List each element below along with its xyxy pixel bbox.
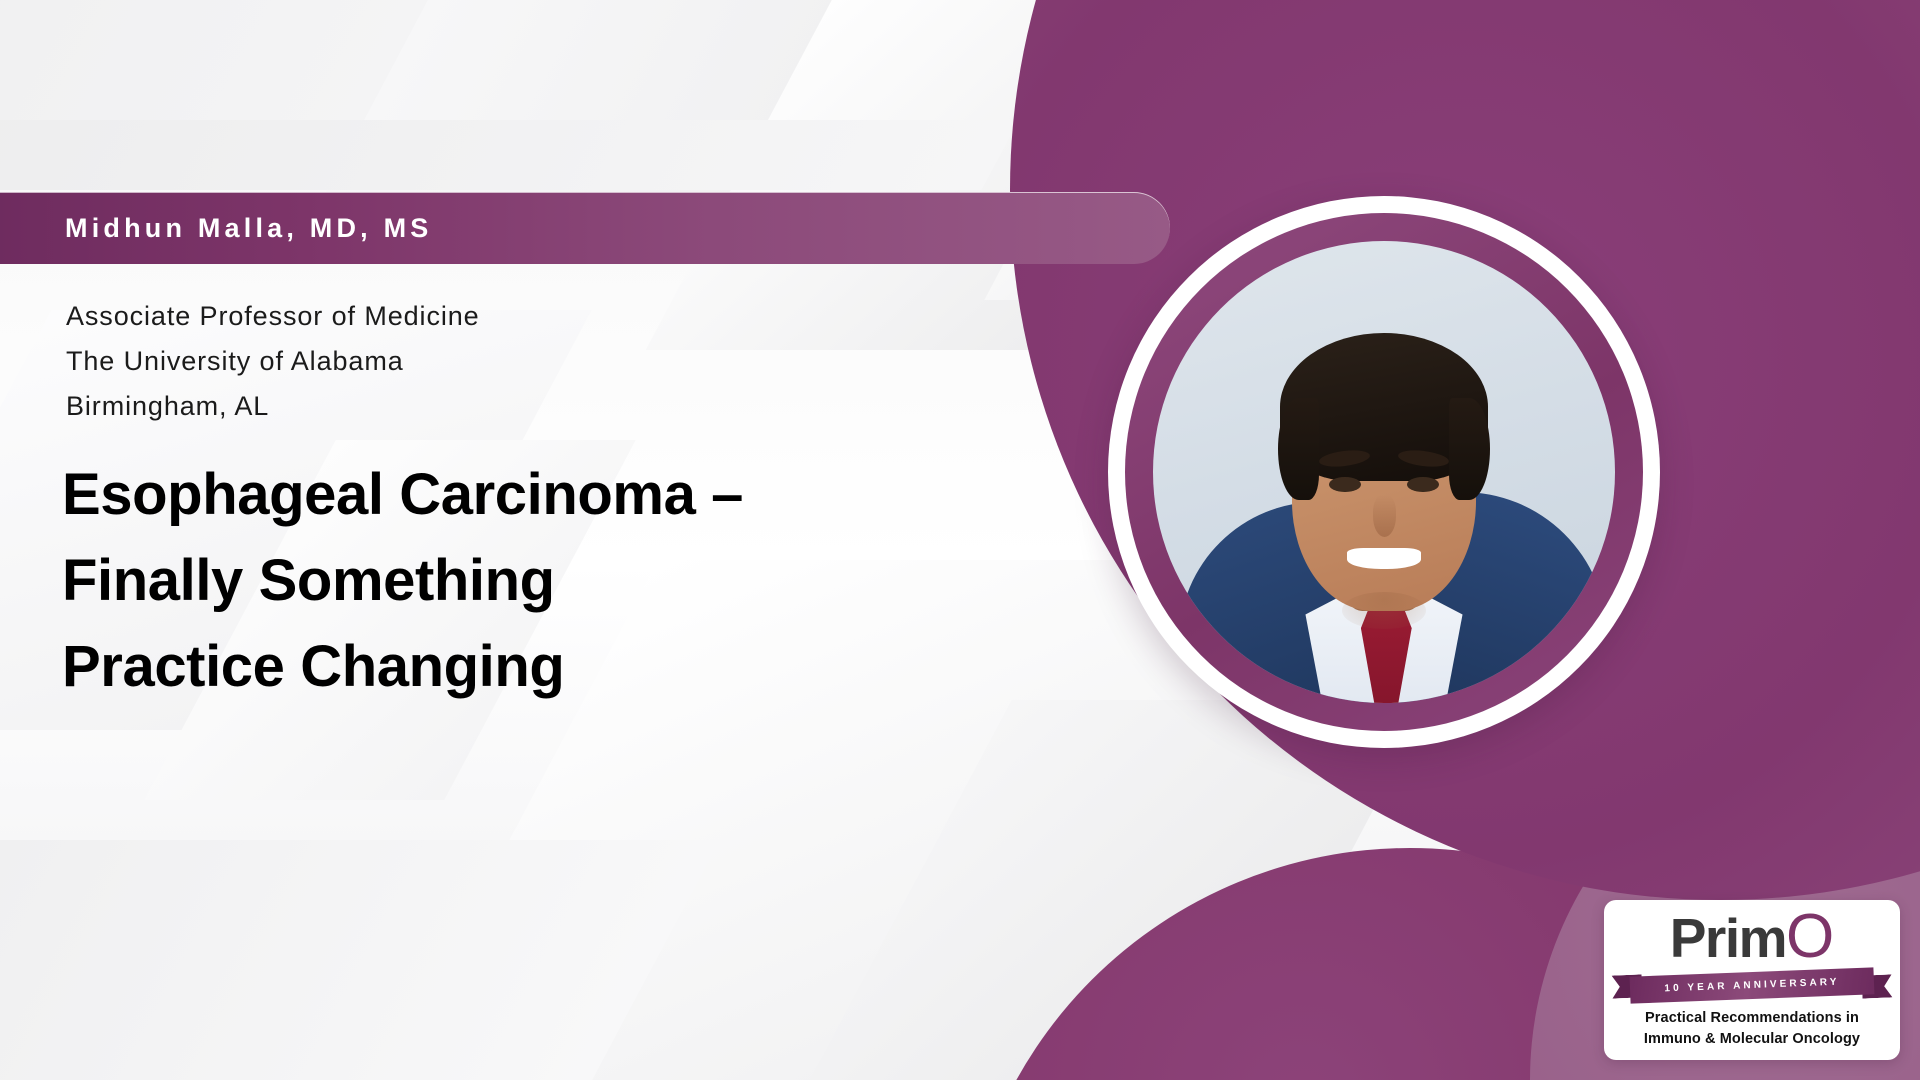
affiliation-block: Associate Professor of Medicine The Univ… (66, 294, 886, 429)
portrait-hair-left (1278, 398, 1320, 500)
portrait-eye-left (1329, 477, 1361, 493)
portrait-nose (1373, 495, 1396, 537)
primo-logo-inner: PrimO 10 YEAR ANNIVERSARY Practical Reco… (1604, 900, 1900, 1060)
portrait-hair-right (1449, 398, 1491, 500)
affiliation-line-1: Associate Professor of Medicine (66, 294, 886, 339)
speaker-name-banner: Midhun Malla, MD, MS (0, 192, 1170, 264)
affiliation-line-3: Birmingham, AL (66, 384, 886, 429)
ribbon-label: 10 YEAR ANNIVERSARY (1664, 977, 1840, 995)
anniversary-ribbon: 10 YEAR ANNIVERSARY (1612, 972, 1892, 1002)
title-line-2: Finally Something (62, 538, 942, 624)
title-slide: Midhun Malla, MD, MS Associate Professor… (0, 0, 1920, 1080)
affiliation-line-2: The University of Alabama (66, 339, 886, 384)
portrait-chin (1342, 592, 1425, 629)
primo-tagline-line-2: Immuno & Molecular Oncology (1604, 1029, 1900, 1050)
primo-logo: PrimO 10 YEAR ANNIVERSARY Practical Reco… (1604, 900, 1900, 1060)
page-title: Esophageal Carcinoma – Finally Something… (62, 452, 942, 710)
primo-word-main: Prim (1670, 907, 1786, 969)
primo-tagline-line-1: Practical Recommendations in (1604, 1008, 1900, 1029)
ribbon-body: 10 YEAR ANNIVERSARY (1630, 967, 1875, 1003)
primo-wordmark: PrimO (1604, 906, 1900, 969)
title-line-1: Esophageal Carcinoma – (62, 452, 942, 538)
primo-tagline: Practical Recommendations in Immuno & Mo… (1604, 1008, 1900, 1050)
speaker-portrait (1108, 196, 1660, 748)
portrait-photo (1153, 241, 1615, 703)
primo-o-icon: O (1786, 902, 1834, 971)
title-line-3: Practice Changing (62, 624, 942, 710)
portrait-teeth (1347, 548, 1421, 569)
speaker-name: Midhun Malla, MD, MS (65, 213, 433, 244)
